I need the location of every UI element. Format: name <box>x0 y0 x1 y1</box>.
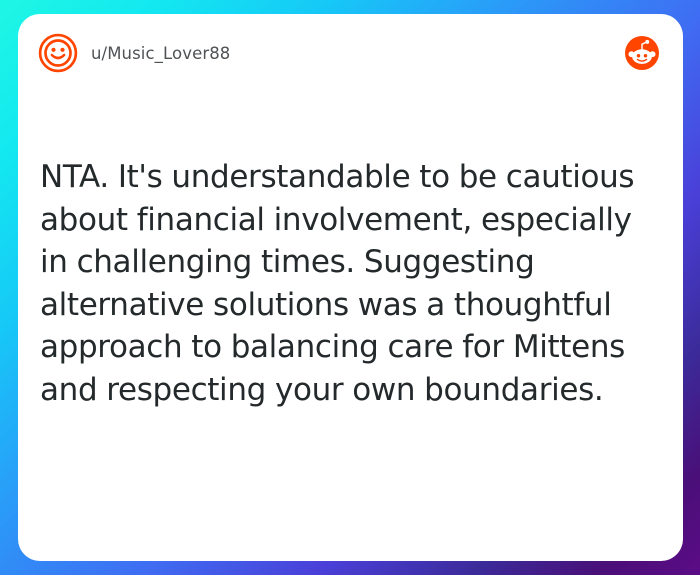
author-username: u/Music_Lover88 <box>91 44 230 63</box>
reddit-comment-card: u/Music_Lover88 NTA. It's underst <box>18 14 683 561</box>
screenshot-canvas: u/Music_Lover88 NTA. It's underst <box>0 0 700 575</box>
author-block[interactable]: u/Music_Lover88 <box>38 33 230 73</box>
post-body-text: NTA. It's understandable to be cautious … <box>40 156 665 411</box>
card-header: u/Music_Lover88 <box>18 14 683 92</box>
reddit-snoo-logo-icon[interactable] <box>625 36 659 70</box>
smiley-face-avatar-icon <box>38 33 78 73</box>
